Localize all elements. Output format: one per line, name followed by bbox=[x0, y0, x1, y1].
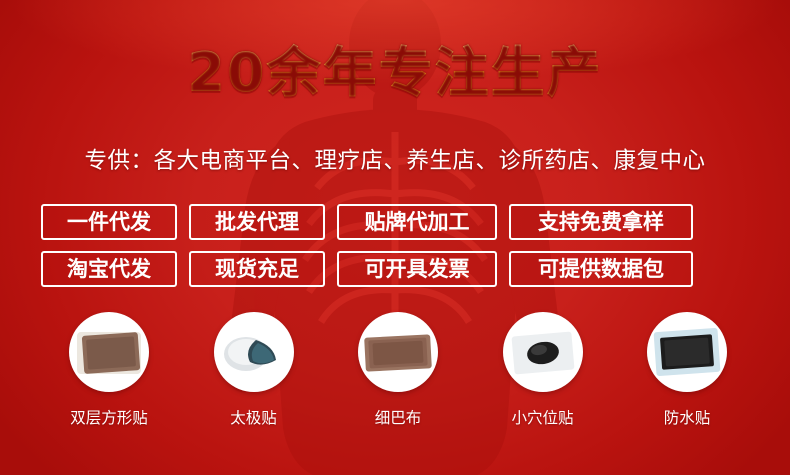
product-thumbnail[interactable] bbox=[214, 312, 294, 392]
product-item[interactable]: 细巴布 bbox=[337, 312, 459, 428]
promo-banner: 20余年专注生产 20余年专注生产 专供：各大电商平台、理疗店、养生店、诊所药店… bbox=[0, 0, 790, 475]
product-thumbnail-list: 双层方形贴 太极贴 bbox=[48, 312, 748, 428]
brown-square-patch-icon bbox=[71, 314, 147, 390]
feature-tag[interactable]: 现货充足 bbox=[189, 251, 325, 287]
product-label: 防水贴 bbox=[664, 406, 711, 428]
waterproof-patch-icon bbox=[649, 314, 725, 390]
feature-tag-row: 一件代发 批发代理 贴牌代加工 支持免费拿样 bbox=[41, 204, 751, 240]
product-item[interactable]: 太极贴 bbox=[193, 312, 315, 428]
small-acupoint-patch-icon bbox=[505, 314, 581, 390]
headline-shadow: 20余年专注生产 bbox=[0, 28, 790, 107]
feature-tag[interactable]: 可提供数据包 bbox=[509, 251, 693, 287]
feature-tag-list: 一件代发 批发代理 贴牌代加工 支持免费拿样 淘宝代发 现货充足 可开具发票 可… bbox=[41, 204, 751, 287]
product-label: 细巴布 bbox=[375, 406, 422, 428]
product-label: 太极贴 bbox=[230, 406, 277, 428]
product-thumbnail[interactable] bbox=[69, 312, 149, 392]
product-thumbnail[interactable] bbox=[503, 312, 583, 392]
product-thumbnail[interactable] bbox=[358, 312, 438, 392]
product-item[interactable]: 双层方形贴 bbox=[48, 312, 170, 428]
taiji-round-patch-icon bbox=[216, 314, 292, 390]
product-item[interactable]: 小穴位贴 bbox=[482, 312, 604, 428]
brown-rectangle-patch-icon bbox=[360, 314, 436, 390]
feature-tag-row: 淘宝代发 现货充足 可开具发票 可提供数据包 bbox=[41, 251, 751, 287]
subtitle: 专供：各大电商平台、理疗店、养生店、诊所药店、康复中心 bbox=[0, 143, 790, 175]
product-label: 双层方形贴 bbox=[70, 406, 148, 428]
product-thumbnail[interactable] bbox=[647, 312, 727, 392]
feature-tag[interactable]: 支持免费拿样 bbox=[509, 204, 693, 240]
feature-tag[interactable]: 可开具发票 bbox=[337, 251, 497, 287]
product-label: 小穴位贴 bbox=[511, 406, 573, 428]
feature-tag[interactable]: 一件代发 bbox=[41, 204, 177, 240]
feature-tag[interactable]: 批发代理 bbox=[189, 204, 325, 240]
product-item[interactable]: 防水贴 bbox=[626, 312, 748, 428]
feature-tag[interactable]: 贴牌代加工 bbox=[337, 204, 497, 240]
feature-tag[interactable]: 淘宝代发 bbox=[41, 251, 177, 287]
